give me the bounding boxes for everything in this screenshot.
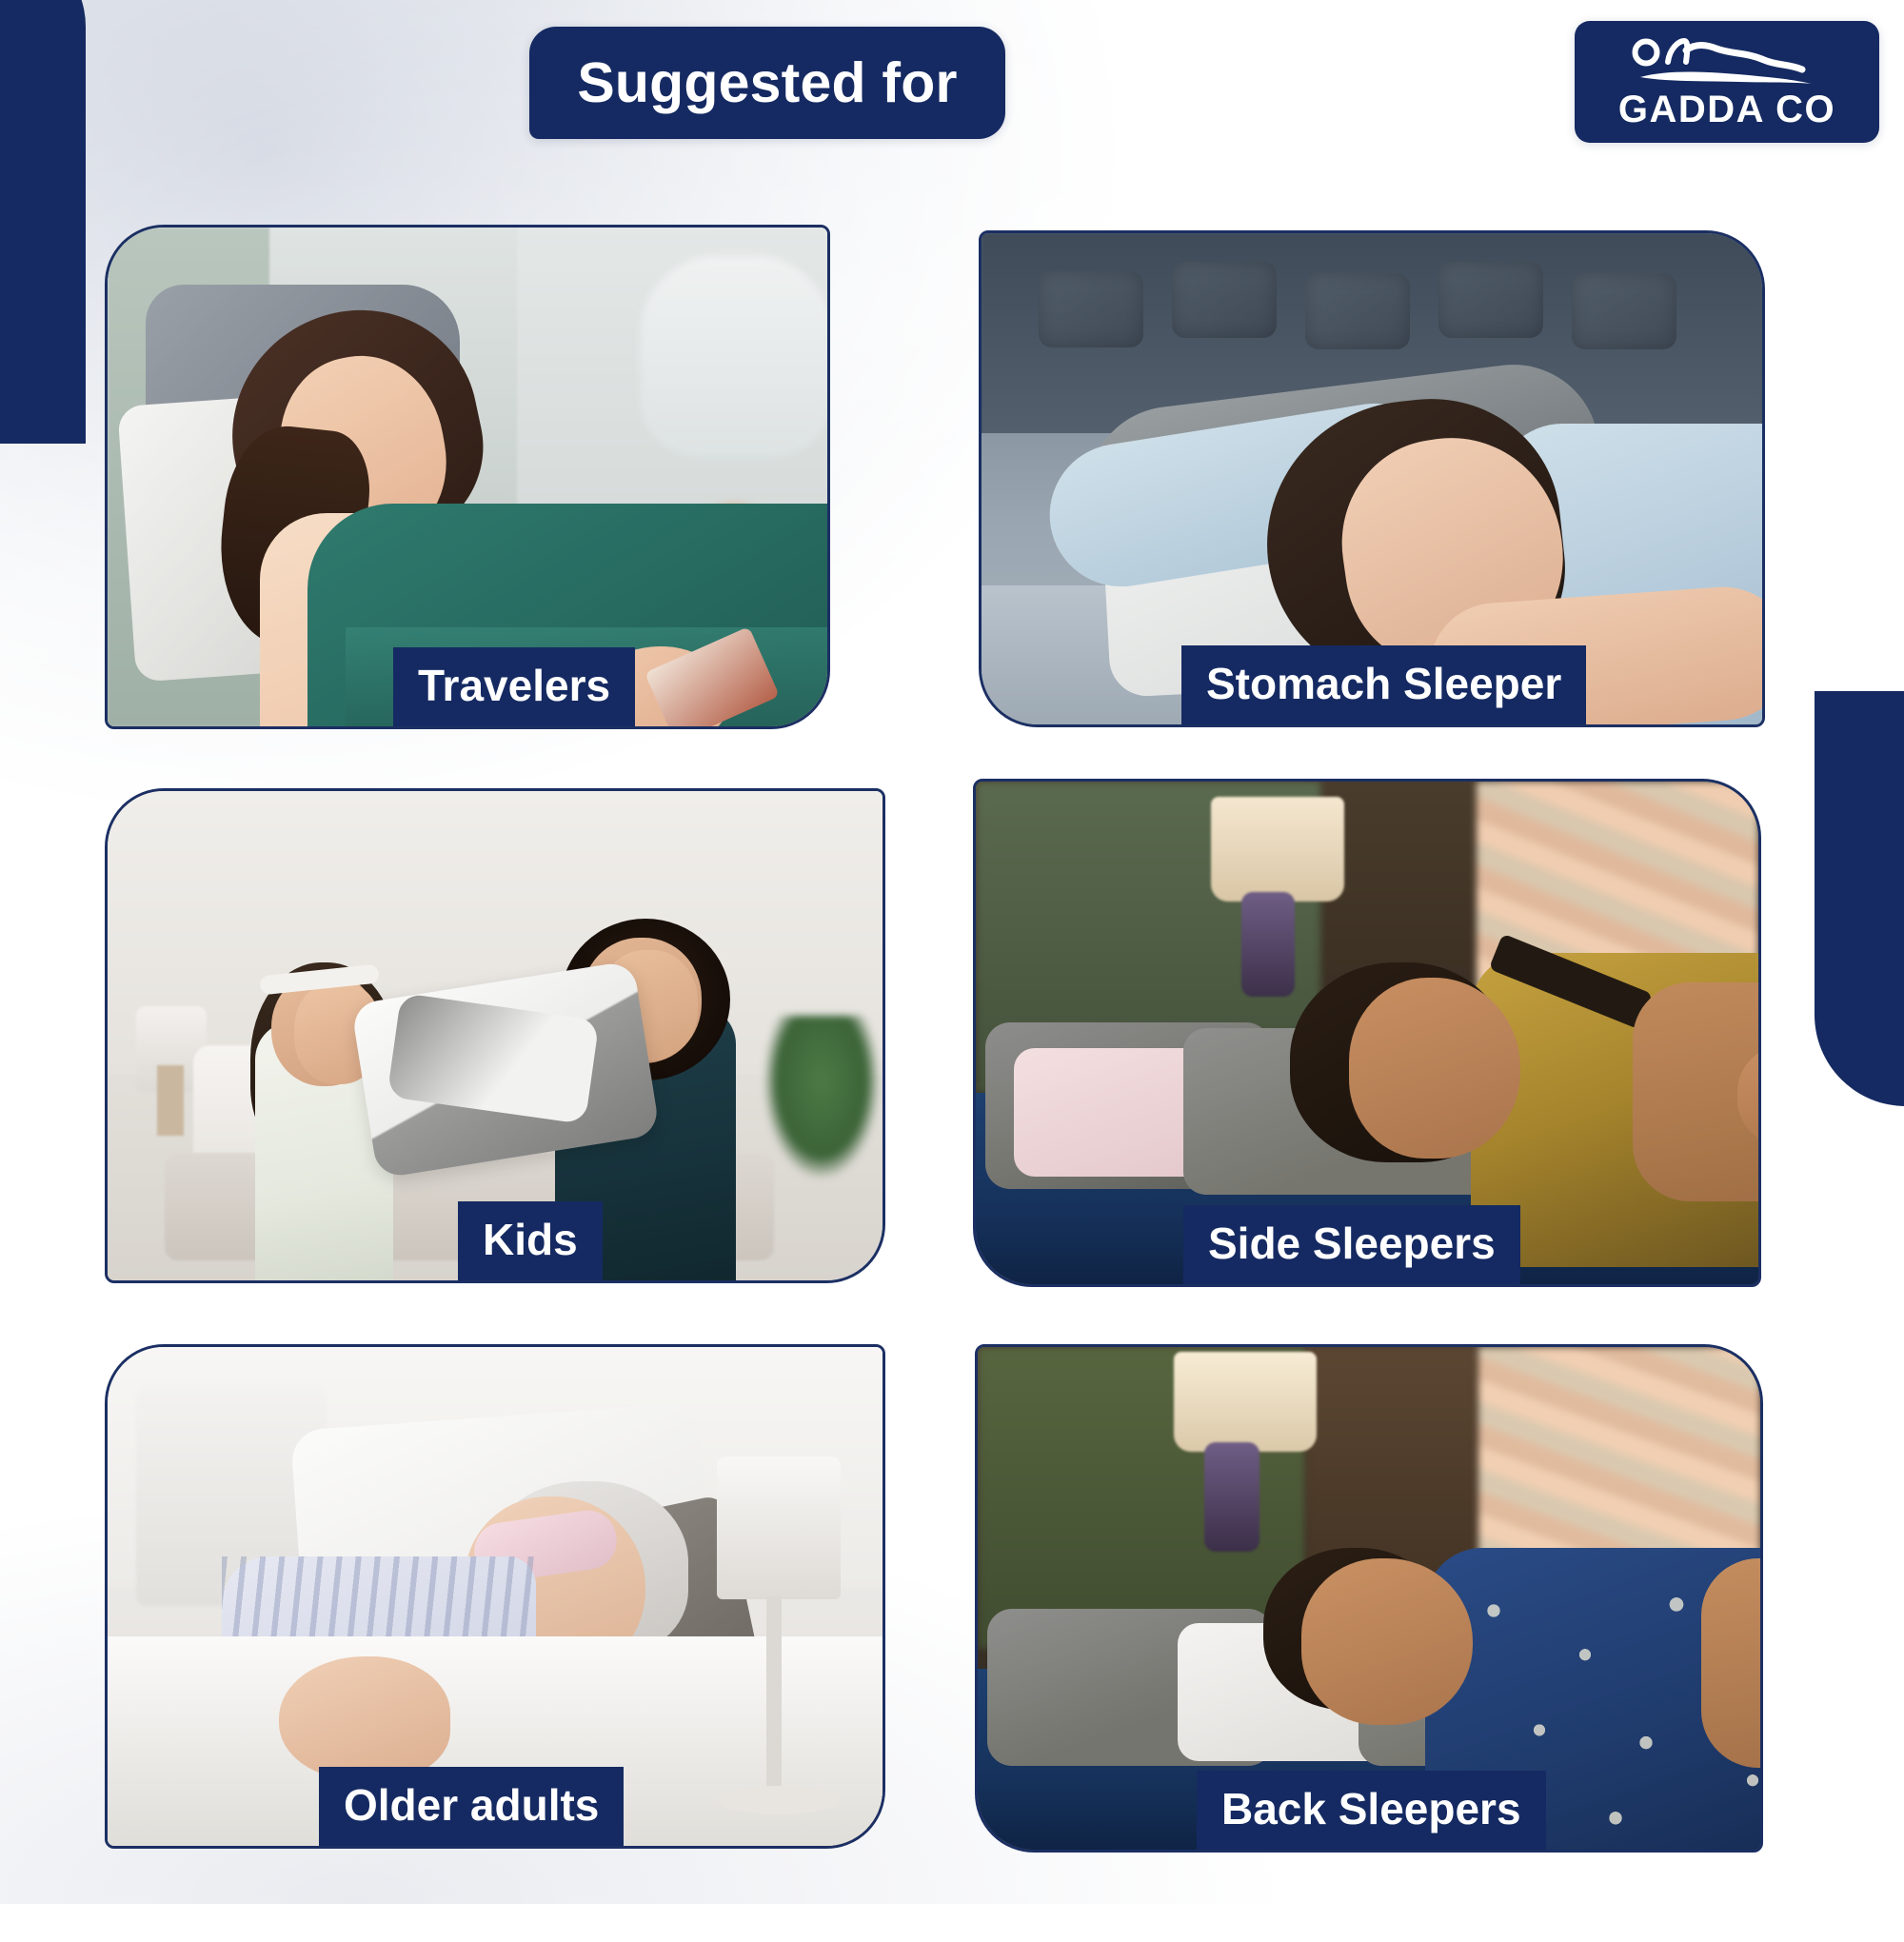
card-older-adults[interactable]: Older adults (105, 1344, 885, 1849)
card-stomach-sleeper[interactable]: Stomach Sleeper (979, 230, 1765, 727)
card-back-sleepers[interactable]: Back Sleepers (975, 1344, 1763, 1853)
card-label-side-sleepers: Side Sleepers (1183, 1205, 1520, 1284)
card-label-travelers: Travelers (393, 647, 635, 726)
card-kids[interactable]: Kids (105, 788, 885, 1283)
card-side-sleepers[interactable]: Side Sleepers (973, 779, 1761, 1287)
card-label-back-sleepers: Back Sleepers (1197, 1771, 1546, 1850)
card-label-kids: Kids (458, 1201, 603, 1280)
card-label-stomach-sleeper: Stomach Sleeper (1181, 645, 1586, 724)
card-label-older-adults: Older adults (319, 1767, 624, 1846)
suggested-for-card-grid: Travelers Stomach (0, 0, 1904, 1904)
card-travelers[interactable]: Travelers (105, 225, 830, 729)
